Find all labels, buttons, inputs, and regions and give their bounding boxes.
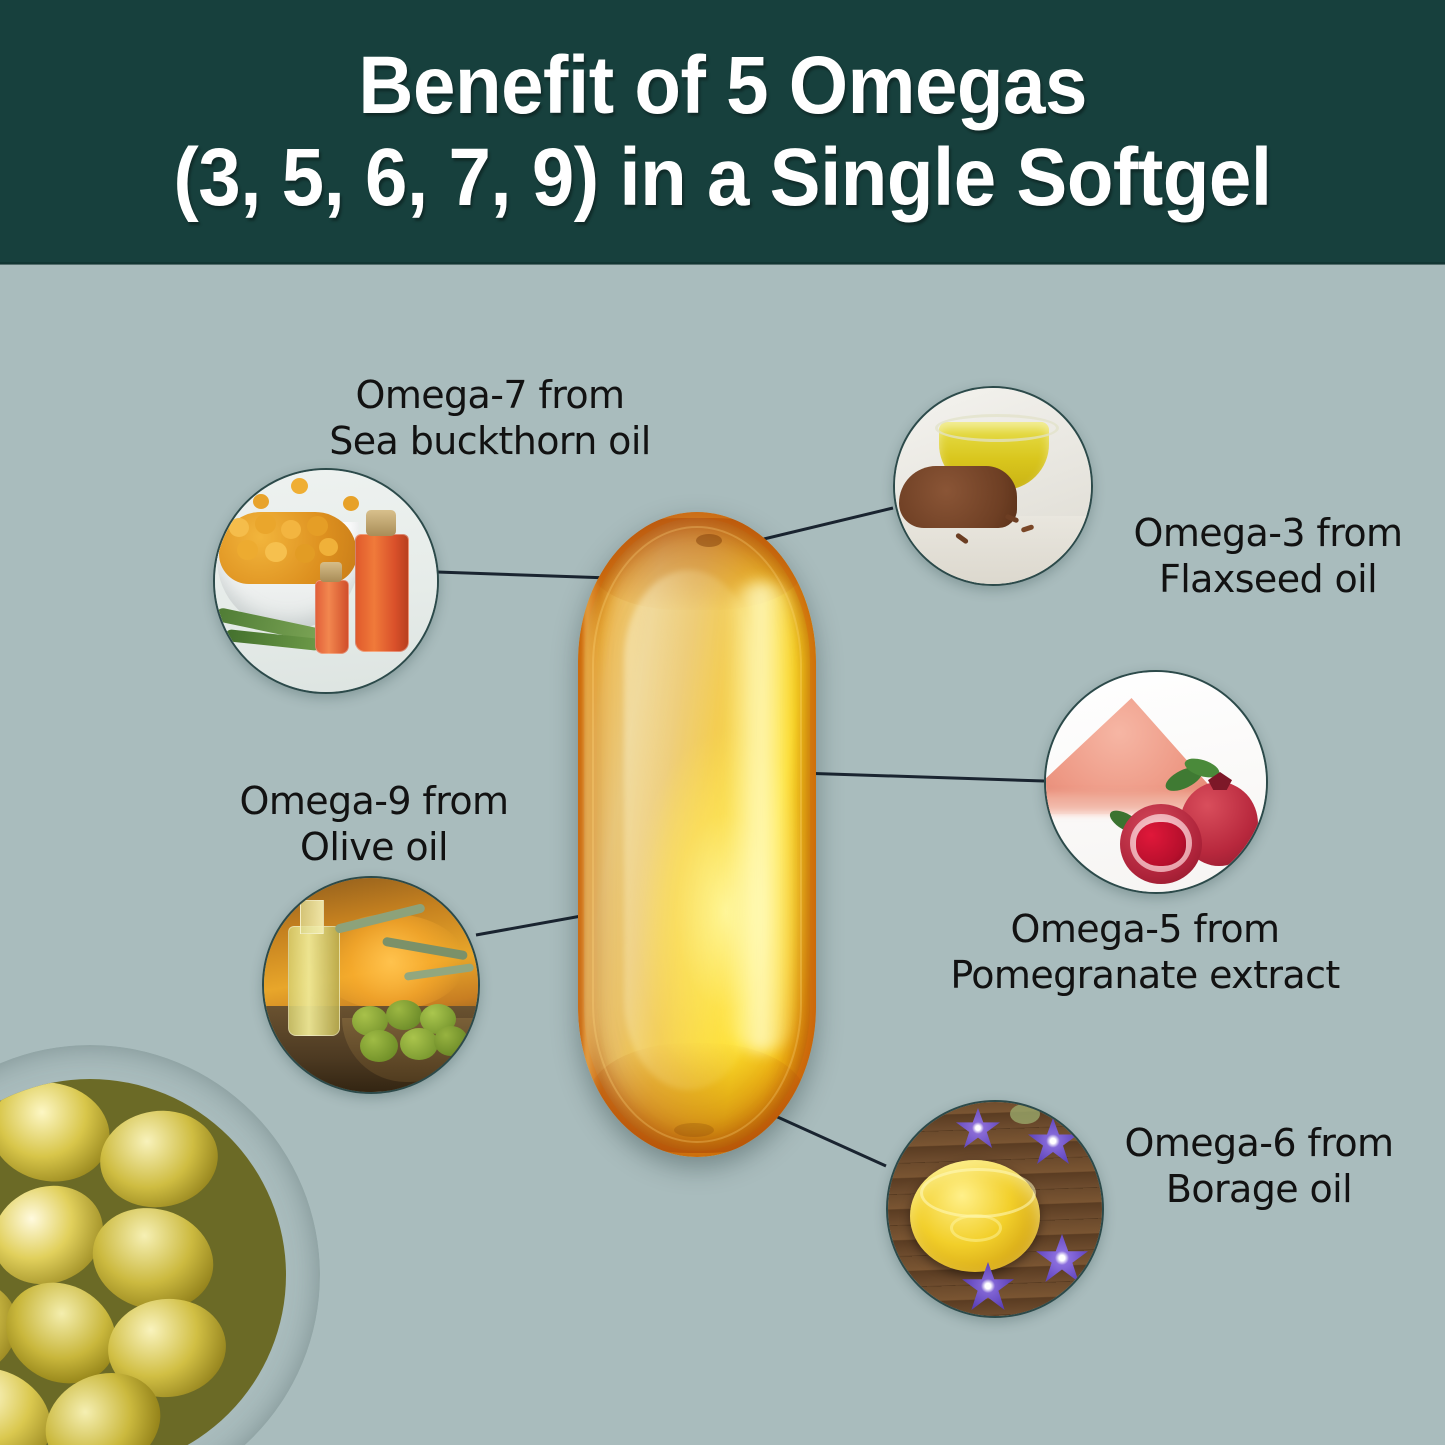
thumb-scene: [1046, 672, 1266, 892]
label-omega-9-line1: Omega-9 from: [196, 778, 552, 824]
berry: [281, 520, 301, 539]
label-omega-3: Omega-3 from Flaxseed oil: [1098, 510, 1438, 602]
pomegranate-arils: [1136, 822, 1186, 866]
oil-bottle-small: [315, 580, 349, 654]
berry: [291, 478, 308, 494]
thumb-scene: [264, 878, 478, 1092]
thumbnail-pomegranate[interactable]: [1044, 670, 1268, 894]
thumbnail-flaxseed[interactable]: [893, 386, 1093, 586]
label-omega-3-line1: Omega-3 from: [1098, 510, 1438, 556]
capsule-speck: [696, 534, 722, 547]
berry: [307, 516, 328, 536]
borage-flower: [1028, 1118, 1078, 1164]
label-omega-5-line1: Omega-5 from: [930, 906, 1360, 952]
infographic-canvas: Benefit of 5 Omegas (3, 5, 6, 7, 9) in a…: [0, 0, 1445, 1445]
berry: [255, 514, 276, 534]
label-omega-6: Omega-6 from Borage oil: [1084, 1120, 1434, 1212]
oil-bottle-large: [355, 534, 409, 652]
oil-swirl: [950, 1214, 1002, 1242]
flower-bud: [1010, 1104, 1040, 1124]
berry: [319, 538, 338, 556]
bottle-neck: [300, 900, 324, 934]
capsule-inner-ring: [592, 526, 802, 1143]
softgel-capsule: [578, 512, 816, 1157]
label-omega-6-line1: Omega-6 from: [1084, 1120, 1434, 1166]
label-omega-3-line2: Flaxseed oil: [1098, 556, 1438, 602]
thumb-scene: [215, 470, 437, 692]
bowl-glass-rim: [0, 1045, 320, 1445]
berry: [229, 518, 249, 537]
flax-seed-pile: [899, 466, 1017, 528]
berry: [253, 494, 269, 509]
page-title-line-1: Benefit of 5 Omegas: [358, 40, 1087, 132]
bowl-rim: [920, 1168, 1036, 1218]
header-divider: [0, 262, 1445, 265]
softgel-bowl: [0, 1045, 320, 1445]
label-omega-7-line1: Omega-7 from: [300, 372, 680, 418]
thumbnail-borage-oil[interactable]: [886, 1100, 1104, 1318]
thumbnail-sea-buckthorn[interactable]: [213, 468, 439, 694]
olive: [386, 1000, 422, 1030]
label-omega-5-line2: Pomegranate extract: [930, 952, 1360, 998]
label-omega-9-line2: Olive oil: [196, 824, 552, 870]
label-omega-5: Omega-5 from Pomegranate extract: [930, 906, 1360, 998]
cork: [366, 510, 396, 536]
olive: [434, 1026, 468, 1056]
thumbnail-olive-oil[interactable]: [262, 876, 480, 1094]
header-banner: Benefit of 5 Omegas (3, 5, 6, 7, 9) in a…: [0, 0, 1445, 264]
borage-flower: [1036, 1234, 1088, 1282]
capsule-speck: [674, 1123, 714, 1137]
label-omega-6-line2: Borage oil: [1084, 1166, 1434, 1212]
cork: [320, 562, 342, 582]
berry: [265, 542, 287, 562]
berry: [237, 540, 258, 560]
label-omega-7-line2: Sea buckthorn oil: [300, 418, 680, 464]
berry: [343, 496, 359, 511]
boat-rim: [935, 414, 1059, 442]
berry: [295, 544, 315, 563]
thumb-scene: [888, 1102, 1102, 1316]
label-omega-7: Omega-7 from Sea buckthorn oil: [300, 372, 680, 464]
label-omega-9: Omega-9 from Olive oil: [196, 778, 552, 870]
thumb-scene: [895, 388, 1091, 584]
page-title-line-2: (3, 5, 6, 7, 9) in a Single Softgel: [173, 132, 1271, 224]
olive: [400, 1028, 438, 1060]
olive-oil-bottle: [288, 926, 340, 1036]
borage-flower: [956, 1108, 1000, 1148]
olive: [360, 1030, 398, 1062]
